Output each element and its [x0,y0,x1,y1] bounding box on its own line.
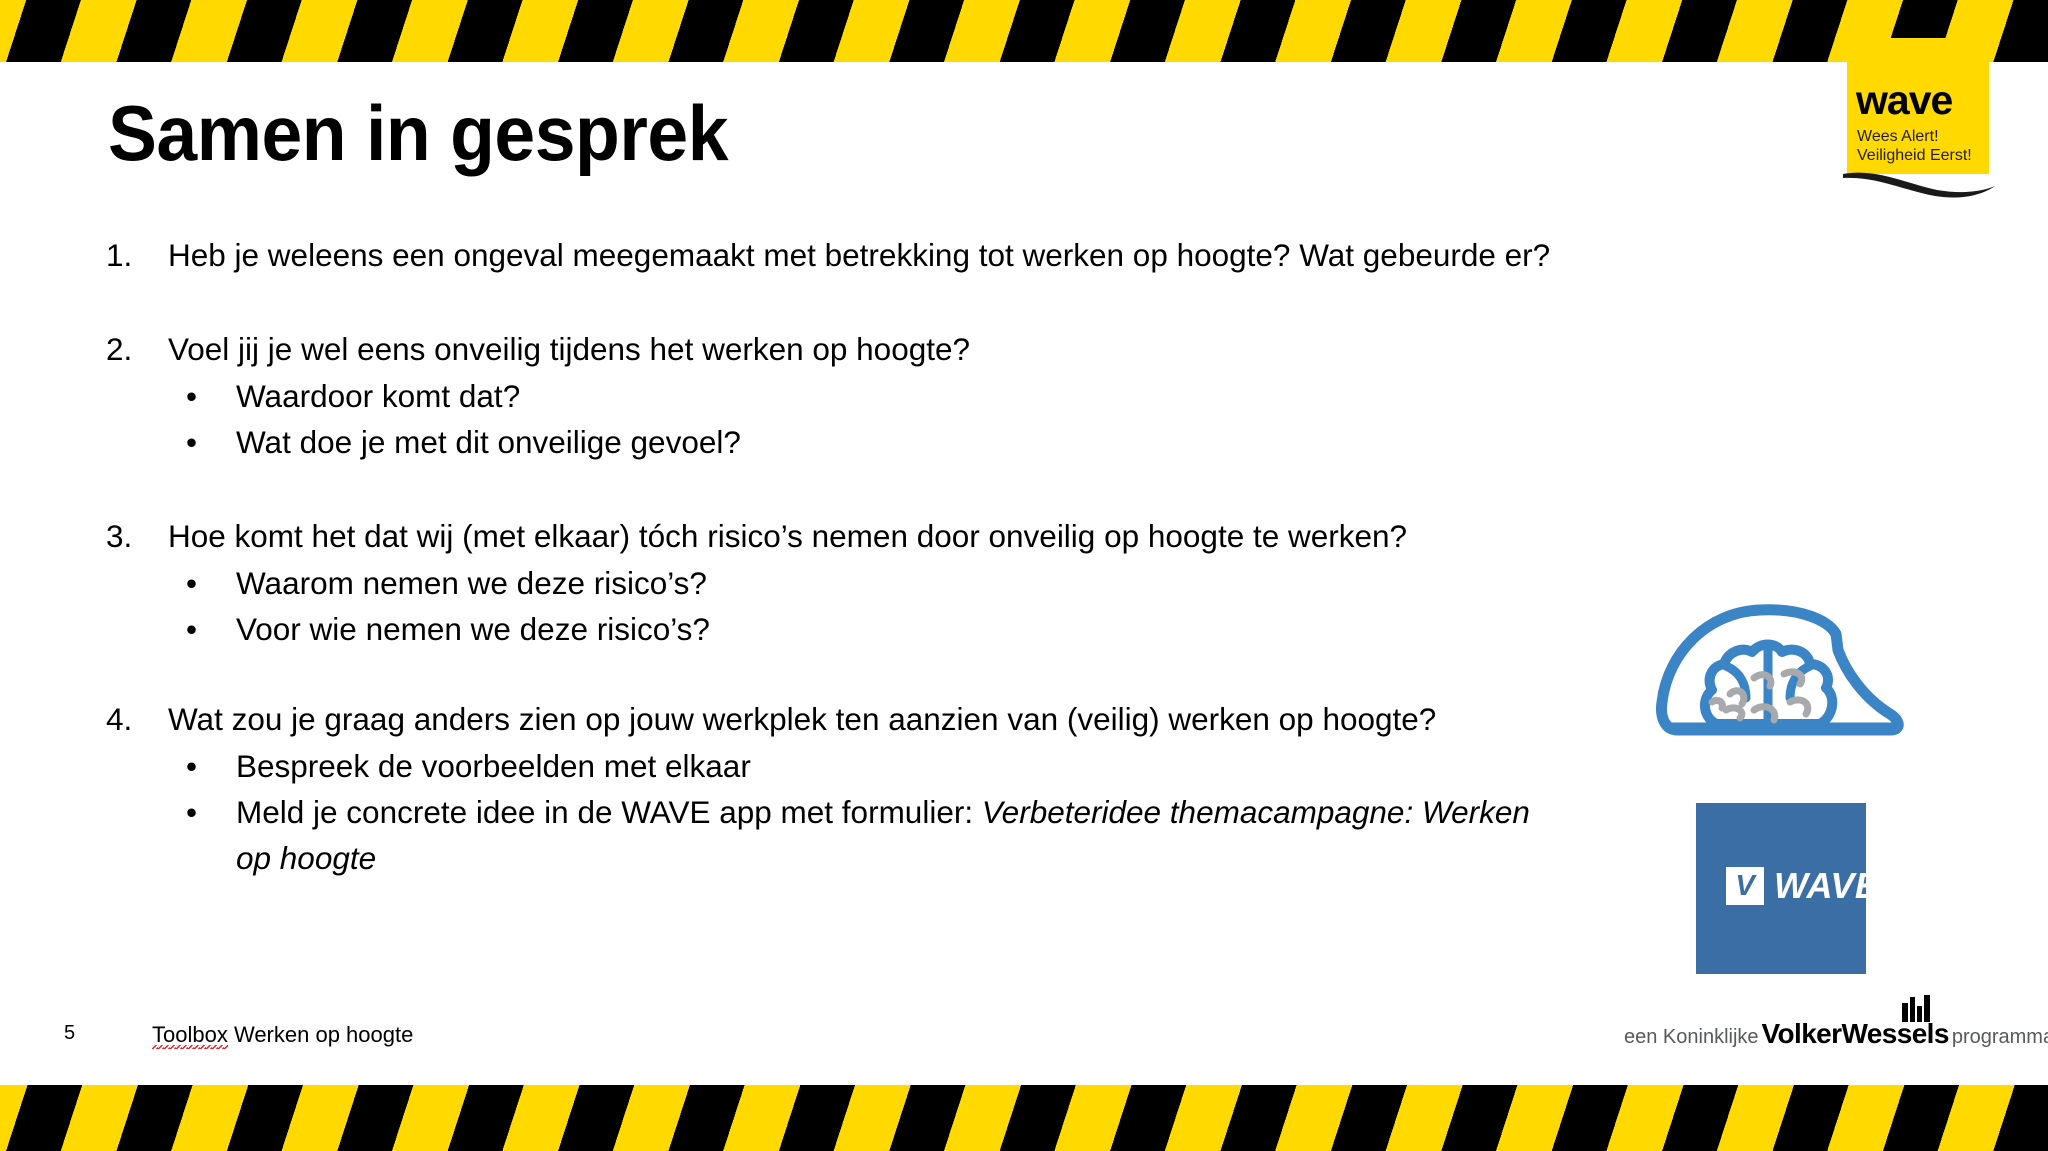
wave-logo-wordmark: wave [1856,80,1952,121]
hazard-stripe-top [0,0,2048,62]
wave-app-badge-letter: V [1735,872,1754,901]
spacer [0,282,1560,326]
bullet-icon: • [186,373,197,419]
bullet-icon: • [186,743,197,789]
sub-bullet-item-wave-app: • Meld je concrete idee in de WAVE app m… [0,789,1560,881]
sub-bullet-list: • Waardoor komt dat? • Wat doe je met di… [0,373,1560,465]
bullet-icon: • [186,419,197,465]
page-number: 5 [64,1022,75,1045]
helmet-brain-icon [1650,598,1912,746]
hazard-stripe-bottom [0,1085,2048,1151]
question-number: 1. [106,232,132,278]
sub-bullet-item: • Bespreek de voorbeelden met elkaar [0,743,1560,789]
footer-title-rest: Werken op hoogte [228,1022,414,1047]
sub-bullet-text: Voor wie nemen we deze risico’s? [236,611,710,647]
sub-bullet-item: • Voor wie nemen we deze risico’s? [0,606,1560,652]
bullet-icon: • [186,789,197,835]
question-number: 4. [106,696,132,742]
wave-logo-tagline-2: Veiligheid Eerst! [1857,146,1972,165]
sub-bullet-text: Meld je concrete idee in de WAVE app met… [236,794,982,830]
vw-prefix: een Koninklijke [1624,1026,1759,1049]
sub-bullet-text: Waarom nemen we deze risico’s? [236,565,707,601]
question-item-1: 1. Heb je weleens een ongeval meegemaakt… [0,232,1560,278]
sub-bullet-item: • Waarom nemen we deze risico’s? [0,560,1560,606]
bullet-icon: • [186,560,197,606]
vw-brand: VolkerWessels [1762,1018,1949,1050]
wave-app-tile: V WAVE [1696,803,1866,974]
question-text: Wat zou je graag anders zien op jouw wer… [168,696,1560,742]
question-row: 3. Hoe komt het dat wij (met elkaar) tóc… [0,513,1560,559]
sub-bullet-item: • Waardoor komt dat? [0,373,1560,419]
wave-logo: wave Wees Alert! Veiligheid Eerst! [1847,38,1989,203]
question-number: 3. [106,513,132,559]
wave-app-badge: V [1726,867,1764,905]
sub-bullet-text: Wat doe je met dit onveilige gevoel? [236,424,741,460]
wave-swoosh-icon [1841,166,1997,200]
footer-title: Toolbox Werken op hoogte [152,1022,413,1048]
question-row: 1. Heb je weleens een ongeval meegemaakt… [0,232,1560,278]
question-text: Voel jij je wel eens onveilig tijdens he… [168,326,1560,372]
sub-bullet-list: • Bespreek de voorbeelden met elkaar • M… [0,743,1560,881]
sub-bullet-list: • Waarom nemen we deze risico’s? • Voor … [0,560,1560,652]
slide-canvas: Samen in gesprek 1. Heb je weleens een o… [0,0,2048,1151]
question-item-3: 3. Hoe komt het dat wij (met elkaar) tóc… [0,513,1560,652]
sub-bullet-item: • Wat doe je met dit onveilige gevoel? [0,419,1560,465]
question-text: Heb je weleens een ongeval meegemaakt me… [168,232,1560,278]
volkerwessels-lockup: een Koninklijke VolkerWessels programma [1624,1018,2048,1048]
wave-logo-tagline-1: Wees Alert! [1857,127,1939,146]
sub-bullet-text: Waardoor komt dat? [236,378,520,414]
question-text: Hoe komt het dat wij (met elkaar) tóch r… [168,513,1560,559]
question-row: 2. Voel jij je wel eens onveilig tijdens… [0,326,1560,372]
spacer [0,656,1560,696]
wave-app-wordmark: WAVE [1774,866,1879,906]
question-number: 2. [106,326,132,372]
discussion-question-list: 1. Heb je weleens een ongeval meegemaakt… [0,232,1560,885]
sub-bullet-text: Bespreek de voorbeelden met elkaar [236,748,751,784]
question-row: 4. Wat zou je graag anders zien op jouw … [0,696,1560,742]
spacer [0,469,1560,513]
question-item-2: 2. Voel jij je wel eens onveilig tijdens… [0,326,1560,465]
page-title: Samen in gesprek [108,92,728,174]
bullet-icon: • [186,606,197,652]
vw-suffix: programma [1952,1026,2048,1049]
question-item-4: 4. Wat zou je graag anders zien op jouw … [0,696,1560,881]
footer-misspelled-word: Toolbox [152,1022,228,1049]
